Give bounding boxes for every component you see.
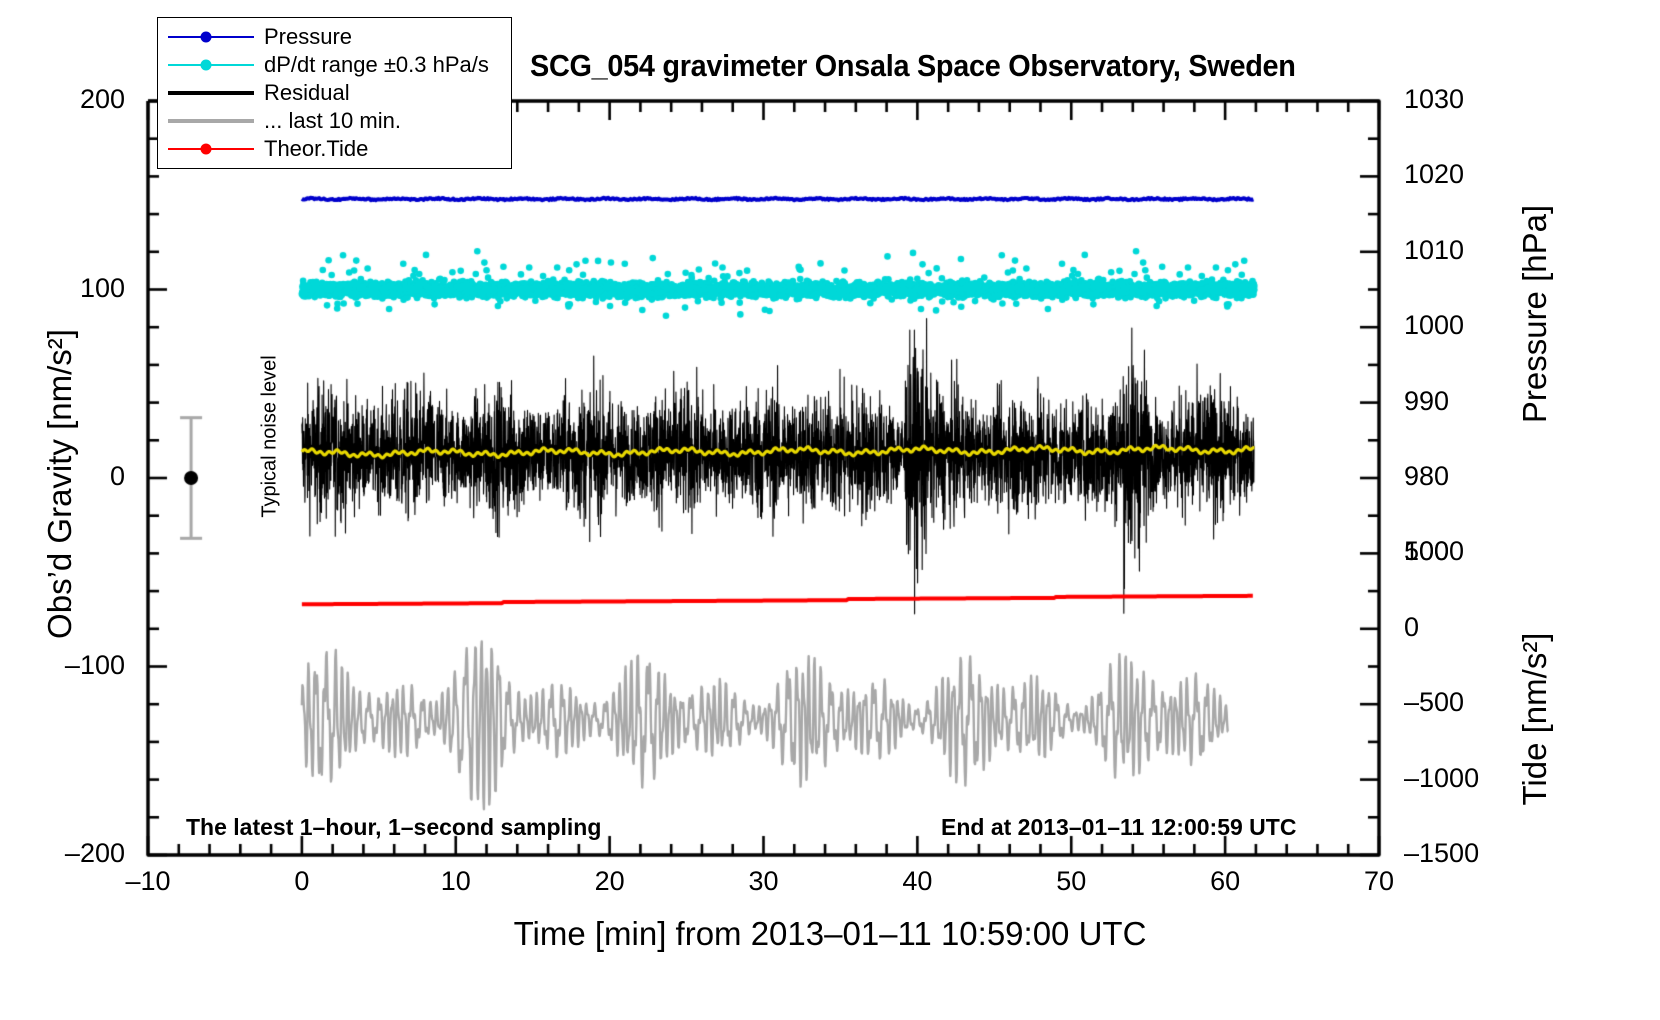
legend-label: Theor.Tide: [264, 136, 368, 162]
legend-swatch-icon: [168, 82, 254, 104]
legend: PressuredP/dt range ±0.3 hPa/sResidual..…: [157, 17, 512, 169]
tide-tick-label: –500: [1404, 687, 1534, 718]
y-tick-label: 200: [5, 84, 125, 115]
legend-swatch-icon: [168, 54, 254, 76]
x-tick-label: 20: [550, 866, 670, 897]
x-tick-label: 10: [396, 866, 516, 897]
legend-item-1[interactable]: dP/dt range ±0.3 hPa/s: [168, 51, 511, 79]
x-tick-label: 70: [1319, 866, 1439, 897]
x-tick-label: 40: [857, 866, 977, 897]
pressure-tick-label: 990: [1404, 386, 1534, 417]
annotation-end-time: End at 2013–01–11 12:00:59 UTC: [941, 814, 1296, 841]
legend-swatch-icon: [168, 138, 254, 160]
y-tick-label: –200: [5, 838, 125, 869]
gravimeter-plot-figure: SCG_054 gravimeter Onsala Space Observat…: [0, 0, 1660, 1020]
pressure-tick-label: 980: [1404, 461, 1534, 492]
x-axis-label: Time [min] from 2013–01–11 10:59:00 UTC: [0, 915, 1660, 953]
annotation-noise-level: Typical noise level: [259, 317, 282, 557]
legend-item-0[interactable]: Pressure: [168, 23, 511, 51]
legend-label: Pressure: [264, 24, 352, 50]
legend-item-3[interactable]: ... last 10 min.: [168, 107, 511, 135]
legend-label: Residual: [264, 80, 350, 106]
tide-tick-label: 0: [1404, 612, 1534, 643]
annotation-sampling-note: The latest 1–hour, 1–second sampling: [186, 814, 601, 841]
y-tick-label: –100: [5, 650, 125, 681]
x-tick-label: 0: [242, 866, 362, 897]
x-tick-label: –10: [88, 866, 208, 897]
x-tick-label: 50: [1011, 866, 1131, 897]
legend-swatch-icon: [168, 26, 254, 48]
chart-title: SCG_054 gravimeter Onsala Space Observat…: [530, 48, 1296, 84]
legend-label: ... last 10 min.: [264, 108, 401, 134]
legend-label: dP/dt range ±0.3 hPa/s: [264, 52, 489, 78]
legend-item-4[interactable]: Theor.Tide: [168, 135, 511, 163]
pressure-tick-label: 1030: [1404, 84, 1534, 115]
tide-tick-label: 500: [1404, 536, 1534, 567]
pressure-tick-label: 1000: [1404, 310, 1534, 341]
y-tick-label: 0: [5, 461, 125, 492]
y-tick-label: 100: [5, 273, 125, 304]
tide-tick-label: –1500: [1404, 838, 1534, 869]
pressure-tick-label: 1010: [1404, 235, 1534, 266]
x-tick-label: 30: [704, 866, 824, 897]
x-tick-label: 60: [1165, 866, 1285, 897]
legend-swatch-icon: [168, 110, 254, 132]
pressure-tick-label: 1020: [1404, 159, 1534, 190]
legend-item-2[interactable]: Residual: [168, 79, 511, 107]
tide-tick-label: –1000: [1404, 763, 1534, 794]
